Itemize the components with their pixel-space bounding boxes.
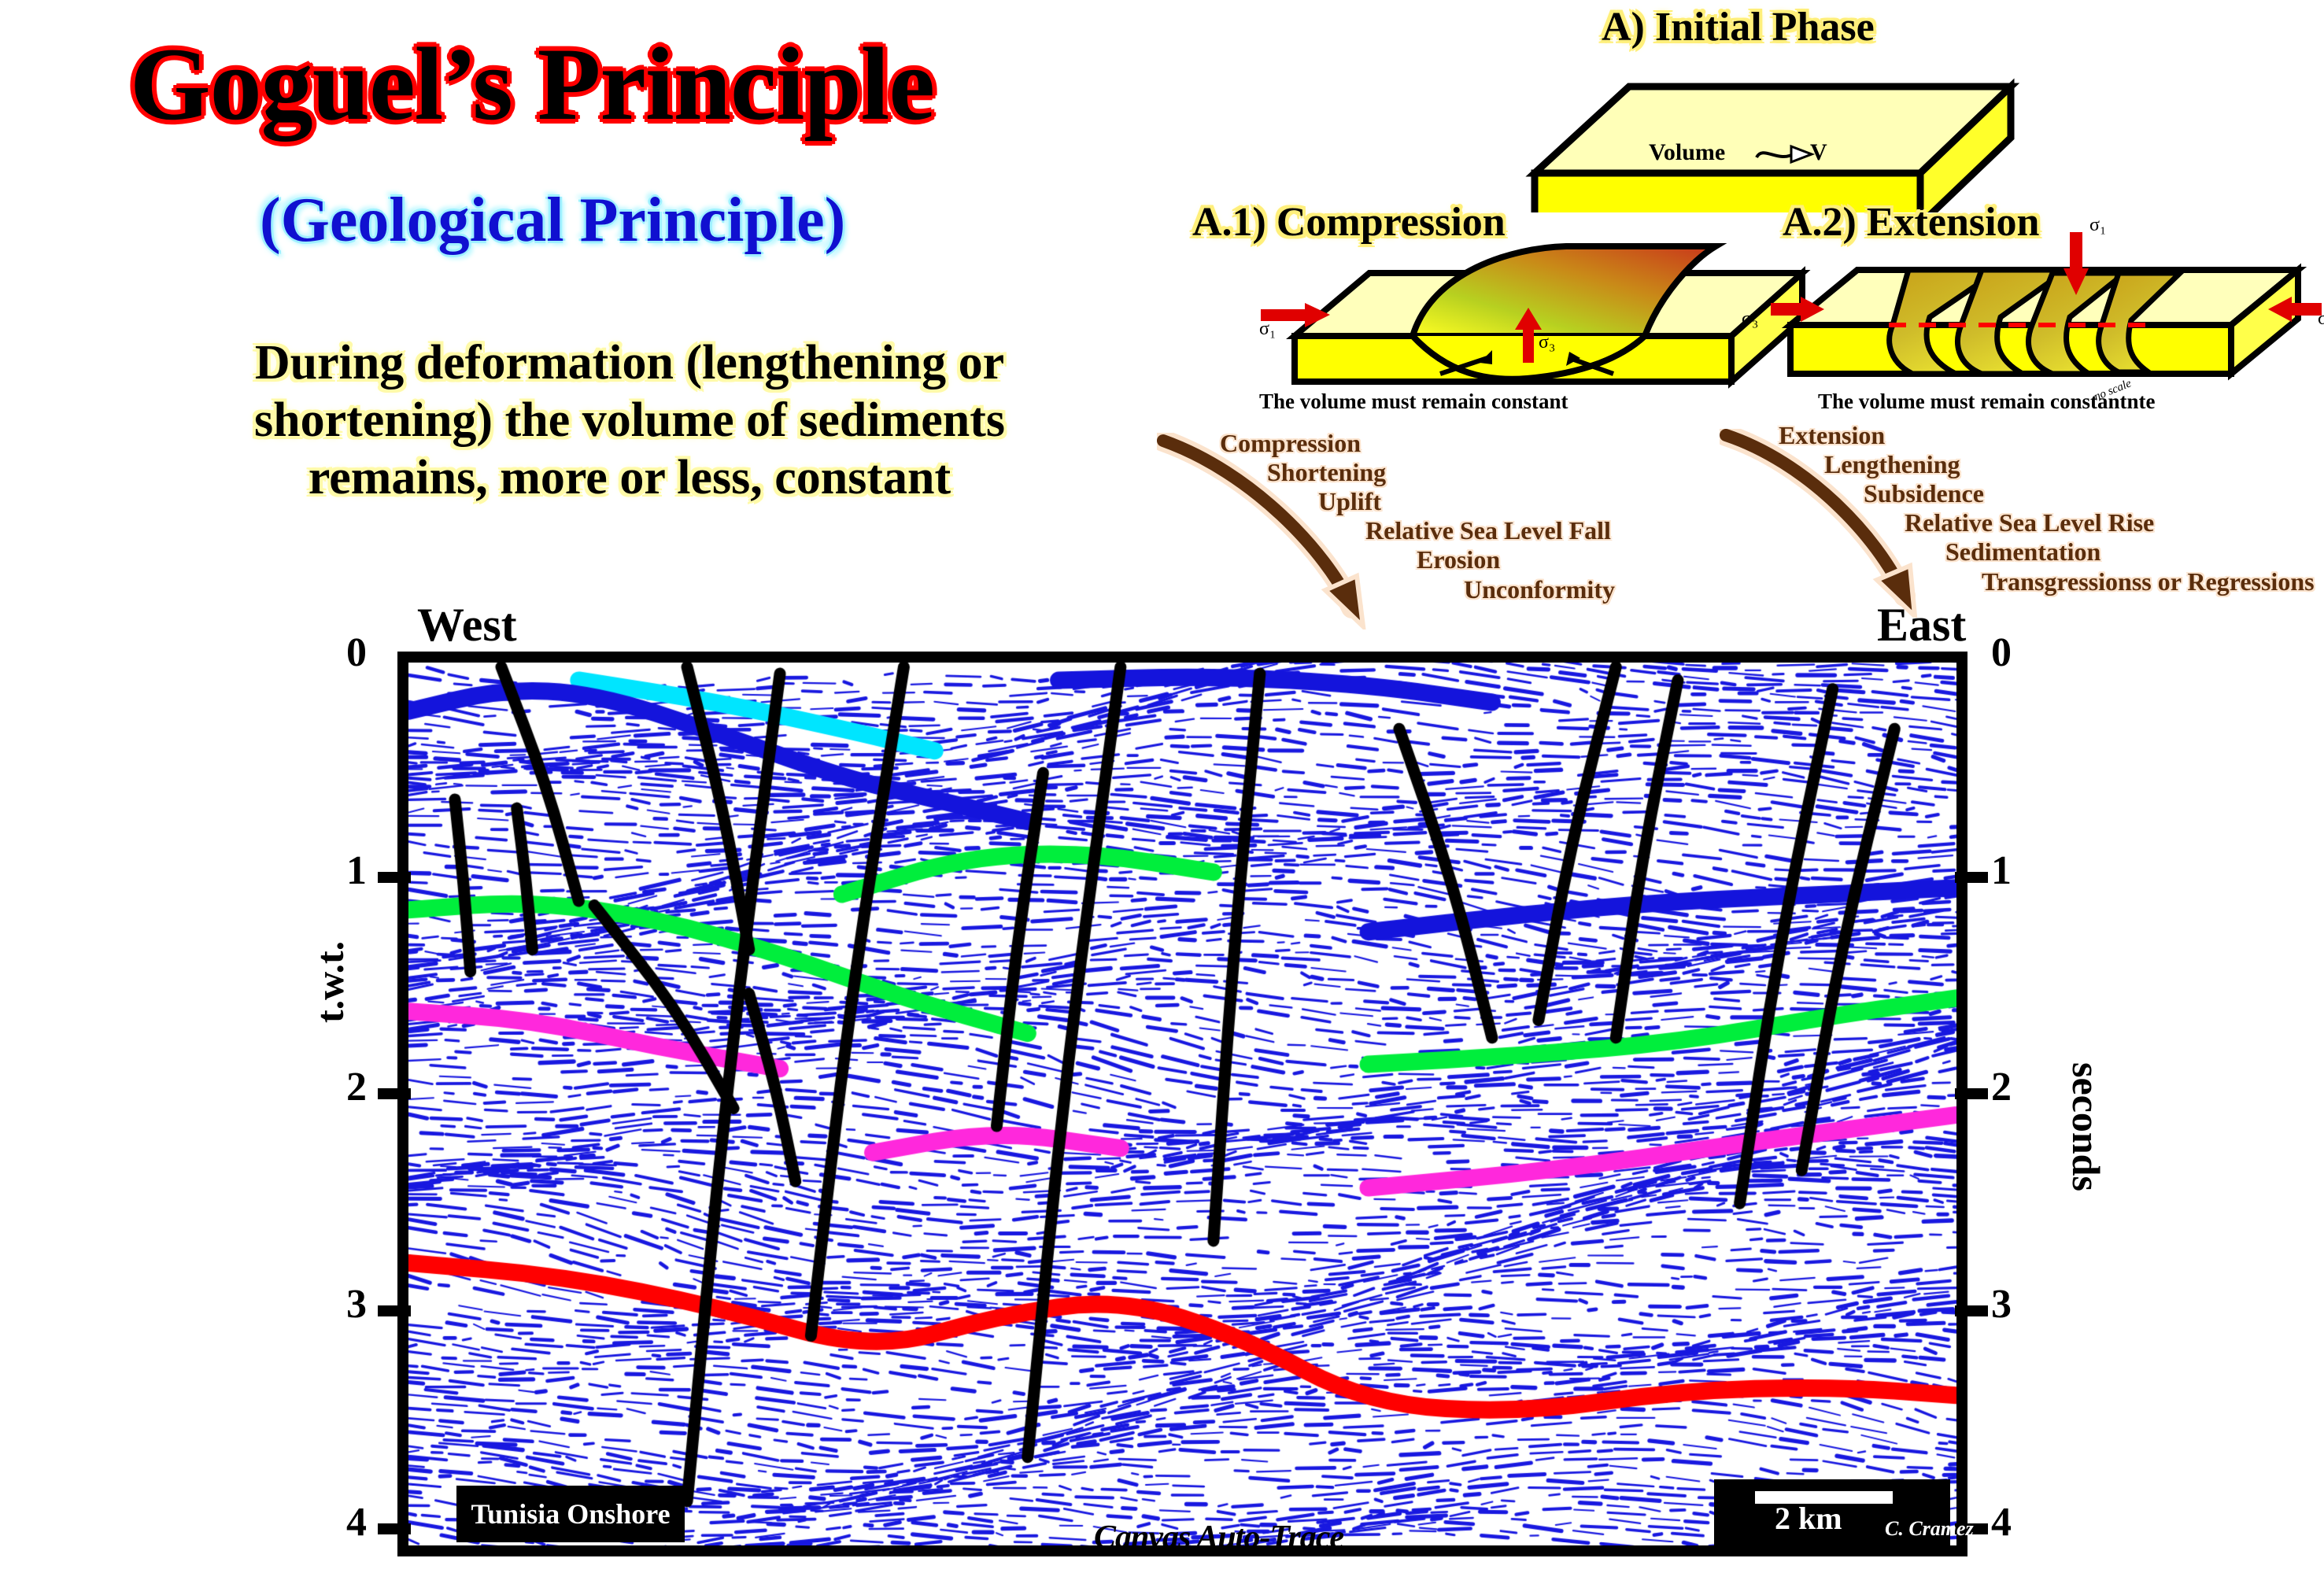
axis-tick-right-1: 1 bbox=[1991, 847, 2012, 894]
initial-block-volume-value: V bbox=[1810, 139, 1827, 166]
initial-phase-heading: A) Initial Phase bbox=[1602, 4, 1875, 50]
consequence-item: Lengthening bbox=[1824, 450, 2315, 479]
compression-sigma1-left-label: σ₁ bbox=[1259, 319, 1276, 340]
watermark-label: Canvas Auto-Trace bbox=[1094, 1519, 1343, 1556]
consequence-item: Shortening bbox=[1267, 458, 1615, 487]
axis-tick-left-1: 1 bbox=[346, 847, 367, 894]
consequence-item: Relative Sea Level Rise bbox=[1905, 508, 2315, 537]
direction-label-east: East bbox=[1877, 598, 1966, 652]
extension-sigma3-right-label: σ₃ bbox=[2318, 308, 2324, 330]
page-subtitle: (Geological Principle) bbox=[260, 185, 1204, 257]
axis-tick-right-0: 0 bbox=[1991, 630, 2012, 676]
axis-tickmark-right-2 bbox=[1955, 1088, 1988, 1099]
consequence-item: Erosion bbox=[1417, 545, 1615, 574]
axis-tick-left-2: 2 bbox=[346, 1064, 367, 1110]
axis-tickmark-right-1 bbox=[1955, 872, 1988, 883]
extension-sigma1-label: σ₁ bbox=[2089, 215, 2106, 236]
author-credit: C. Cramez bbox=[1885, 1517, 1974, 1541]
compression-consequence-list: Compression Shortening Uplift Relative S… bbox=[1220, 429, 1615, 604]
axis-tick-left-3: 3 bbox=[346, 1281, 367, 1327]
consequence-item: Compression bbox=[1220, 429, 1615, 458]
axis-label-seconds: seconds bbox=[2064, 1062, 2109, 1191]
consequence-item: Transgressionss or Regressions bbox=[1982, 567, 2315, 596]
scale-bar-label: 2 km bbox=[1775, 1500, 1842, 1537]
initial-phase-block-diagram bbox=[1491, 55, 2042, 212]
axis-tickmark-left-1 bbox=[378, 872, 411, 883]
initial-block-volume-label: Volume bbox=[1649, 139, 1725, 166]
extension-consequence-list: Extension Lengthening Subsidence Relativ… bbox=[1779, 421, 2315, 596]
axis-tick-right-2: 2 bbox=[1991, 1064, 2012, 1110]
squiggle-arrow-icon bbox=[1755, 140, 1818, 168]
page-title: Goguel’s Principle bbox=[130, 24, 1232, 144]
axis-tick-right-3: 3 bbox=[1991, 1281, 2012, 1327]
extension-sigma3-left-label: σ₃ bbox=[1742, 308, 1758, 330]
axis-tick-right-4: 4 bbox=[1991, 1499, 2012, 1545]
location-label: Tunisia Onshore bbox=[471, 1497, 670, 1530]
axis-tickmark-left-3 bbox=[378, 1305, 411, 1316]
consequence-item: Relative Sea Level Fall bbox=[1365, 516, 1615, 545]
consequence-item: Subsidence bbox=[1864, 479, 2315, 508]
axis-tickmark-left-2 bbox=[378, 1088, 411, 1099]
consequence-item: Sedimentation bbox=[1945, 537, 2315, 567]
extension-block-diagram bbox=[1755, 224, 2324, 397]
principle-statement: During deformation (lengthening or short… bbox=[169, 334, 1090, 507]
direction-label-west: West bbox=[417, 598, 517, 652]
axis-tick-left-4: 4 bbox=[346, 1499, 367, 1545]
axis-tickmark-left-4 bbox=[378, 1523, 411, 1534]
axis-tick-left-0: 0 bbox=[346, 630, 367, 676]
axis-tickmark-right-3 bbox=[1955, 1305, 1988, 1316]
compression-sigma3-label: σ₃ bbox=[1539, 332, 1555, 353]
consequence-item: Extension bbox=[1779, 421, 2315, 450]
location-badge: Tunisia Onshore bbox=[456, 1486, 685, 1542]
consequence-item: Unconformity bbox=[1464, 575, 1615, 604]
seismic-section[interactable] bbox=[397, 652, 1967, 1556]
axis-label-twt: t.w.t. bbox=[307, 941, 353, 1023]
seismic-canvas bbox=[408, 663, 1956, 1545]
compression-caption: The volume must remain constant bbox=[1259, 390, 1568, 414]
consequence-item: Uplift bbox=[1318, 487, 1615, 516]
